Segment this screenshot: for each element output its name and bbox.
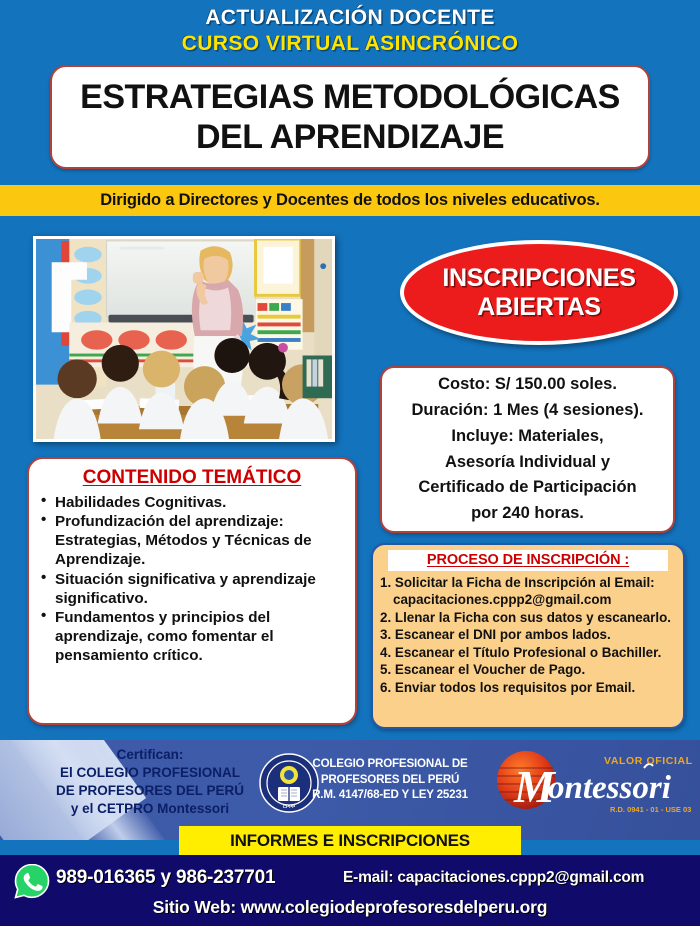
montessori-registration: R.D. 0941 - 01 - USE 03: [610, 805, 691, 814]
email-address[interactable]: E-mail: capacitaciones.cppp2@gmail.com: [343, 869, 644, 887]
audience-strip: Dirigido a Directores y Docentes de todo…: [0, 185, 700, 216]
classroom-photo: [33, 236, 335, 442]
step-email: capacitaciones.cppp2@gmail.com: [380, 591, 676, 608]
header-line-2: CURSO VIRTUAL ASINCRÓNICO: [0, 32, 700, 56]
cost-line: Incluye: Materiales,: [451, 424, 603, 450]
step-text: Enviar todos los requisitos por Email.: [395, 680, 635, 695]
list-item: 4. Escanear el Título Profesional o Bach…: [380, 644, 676, 661]
montessori-logo-icon: M ontessori VALOR OFICIAL R.D. 0941 - 01…: [492, 746, 692, 818]
certification-band: Certifican: El COLEGIO PROFESIONAL DE PR…: [0, 740, 700, 840]
step-text: Escanear el Voucher de Pago.: [395, 662, 585, 677]
step-text: Escanear el DNI por ambos lados.: [395, 627, 611, 642]
list-item: 6. Enviar todos los requisitos por Email…: [380, 679, 676, 696]
svg-text:CPPP: CPPP: [283, 804, 296, 809]
cppp-line-3: R.M. 4147/68-ED Y LEY 25231: [300, 787, 480, 803]
audience-strip-text: Dirigido a Directores y Docentes de todo…: [100, 191, 600, 210]
badge-line-1: INSCRIPCIONES: [442, 264, 635, 293]
cost-line: Costo: S/ 150.00 soles.: [438, 372, 617, 398]
contenido-list: Habilidades Cognitivas. Profundización d…: [39, 493, 345, 665]
phone-numbers[interactable]: 989-016365 y 986-237701: [56, 867, 275, 889]
step-number: 2.: [380, 610, 391, 625]
step-number: 5.: [380, 662, 391, 677]
course-title-line-1: ESTRATEGIAS METODOLÓGICAS: [80, 78, 620, 116]
step-text: Solicitar la Ficha de Inscripción al Ema…: [395, 575, 655, 590]
badge-line-2: ABIERTAS: [477, 293, 601, 322]
list-item: 1. Solicitar la Ficha de Inscripción al …: [380, 574, 676, 609]
montessori-tagline: VALOR OFICIAL: [604, 755, 692, 767]
list-item: 3. Escanear el DNI por ambos lados.: [380, 626, 676, 643]
list-item: Situación significativa y aprendizaje si…: [39, 570, 345, 608]
cppp-line-2: PROFESORES DEL PERÚ: [300, 772, 480, 788]
cost-line: Duración: 1 Mes (4 sesiones).: [412, 398, 644, 424]
step-text: Escanear el Título Profesional o Bachill…: [395, 645, 661, 660]
certifican-label: Certifican:: [20, 746, 280, 764]
cost-line: Certificado de Participación: [418, 475, 636, 501]
cppp-logo-text: COLEGIO PROFESIONAL DE PROFESORES DEL PE…: [300, 756, 480, 803]
step-number: 1.: [380, 575, 391, 590]
header-line-1: ACTUALIZACIÓN DOCENTE: [0, 6, 700, 30]
classroom-photo-illustration: [36, 239, 332, 439]
list-item: Habilidades Cognitivas.: [39, 493, 345, 512]
proceso-steps-list: 1. Solicitar la Ficha de Inscripción al …: [380, 574, 676, 696]
contenido-tematico-box: CONTENIDO TEMÁTICO Habilidades Cognitiva…: [27, 457, 357, 725]
cost-line: por 240 horas.: [471, 501, 584, 527]
step-number: 4.: [380, 645, 391, 660]
whatsapp-icon[interactable]: [14, 863, 50, 899]
certifican-org-3: y el CETPRO Montessori: [20, 800, 280, 818]
step-text: Llenar la Ficha con sus datos y escanear…: [395, 610, 671, 625]
certifican-block: Certifican: El COLEGIO PROFESIONAL DE PR…: [20, 746, 280, 818]
list-item: 2. Llenar la Ficha con sus datos y escan…: [380, 609, 676, 626]
list-item: Fundamentos y principios del aprendizaje…: [39, 608, 345, 665]
contact-footer: 989-016365 y 986-237701 E-mail: capacita…: [0, 855, 700, 926]
montessori-wordmark: ontessori: [548, 770, 672, 806]
step-number: 6.: [380, 680, 391, 695]
course-title-line-2: DEL APRENDIZAJE: [196, 118, 504, 156]
informes-text: INFORMES E INSCRIPCIONES: [230, 831, 470, 851]
informes-band: INFORMES E INSCRIPCIONES: [179, 826, 521, 855]
list-item: 5. Escanear el Voucher de Pago.: [380, 661, 676, 678]
certifican-org-1: El COLEGIO PROFESIONAL: [20, 764, 280, 782]
header-block: ACTUALIZACIÓN DOCENTE CURSO VIRTUAL ASIN…: [0, 6, 700, 56]
cppp-line-1: COLEGIO PROFESIONAL DE: [300, 756, 480, 772]
proceso-inscripcion-box: PROCESO DE INSCRIPCIÓN : 1. Solicitar la…: [371, 543, 685, 729]
proceso-heading-band: PROCESO DE INSCRIPCIÓN :: [388, 550, 668, 571]
proceso-heading: PROCESO DE INSCRIPCIÓN :: [427, 552, 629, 568]
flyer-poster: ACTUALIZACIÓN DOCENTE CURSO VIRTUAL ASIN…: [0, 0, 700, 926]
contenido-heading: CONTENIDO TEMÁTICO: [39, 467, 345, 489]
course-title-box: ESTRATEGIAS METODOLÓGICAS DEL APRENDIZAJ…: [50, 65, 650, 169]
step-number: 3.: [380, 627, 391, 642]
cost-line: Asesoría Individual y: [445, 450, 610, 476]
inscripciones-abiertas-badge: INSCRIPCIONES ABIERTAS: [400, 240, 678, 345]
cost-details-box: Costo: S/ 150.00 soles. Duración: 1 Mes …: [380, 366, 675, 533]
list-item: Profundización del aprendizaje: Estrateg…: [39, 512, 345, 569]
website-url[interactable]: Sitio Web: www.colegiodeprofesoresdelper…: [0, 897, 700, 918]
certifican-org-2: DE PROFESORES DEL PERÚ: [20, 782, 280, 800]
